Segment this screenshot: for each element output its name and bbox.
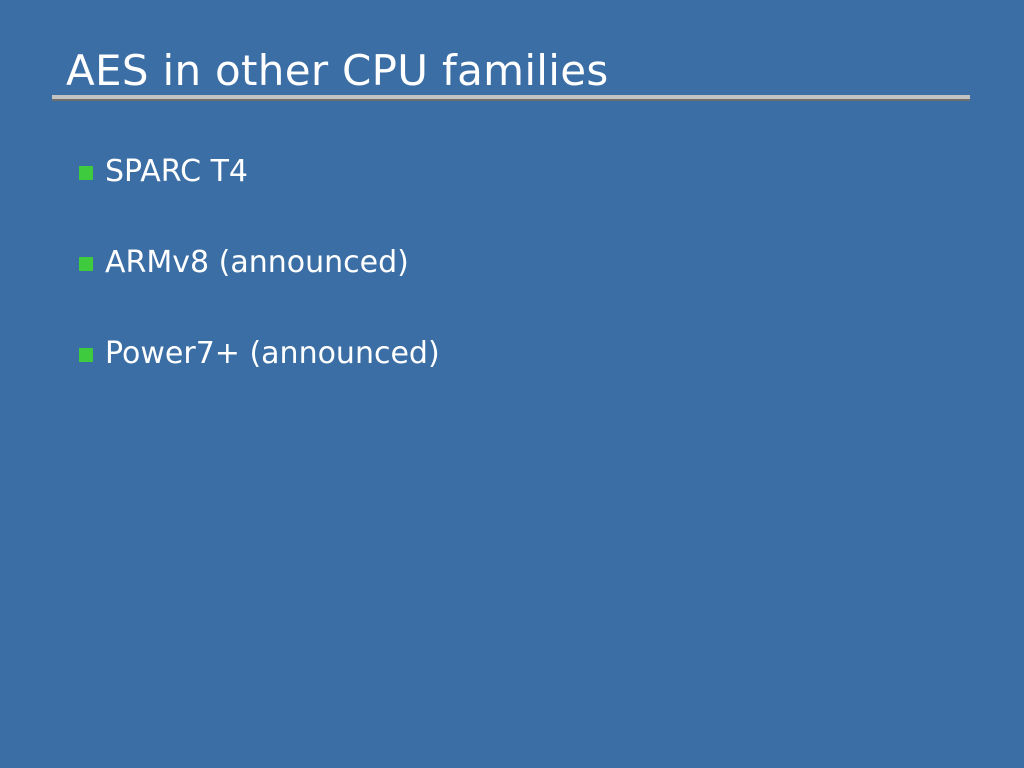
presentation-slide: AES in other CPU families SPARC T4 ARMv8… xyxy=(0,0,1024,768)
title-underline-rule xyxy=(52,95,970,101)
bullet-list: SPARC T4 ARMv8 (announced) Power7+ (anno… xyxy=(0,148,1024,421)
list-item: Power7+ (announced) xyxy=(0,330,1024,421)
list-item: SPARC T4 xyxy=(0,148,1024,239)
bullet-label: ARMv8 (announced) xyxy=(105,242,409,284)
bullet-label: Power7+ (announced) xyxy=(105,333,440,375)
title-rule-shadow xyxy=(52,99,970,101)
green-square-bullet-icon xyxy=(79,348,93,362)
green-square-bullet-icon xyxy=(79,257,93,271)
slide-title-block: AES in other CPU families xyxy=(0,0,1024,110)
bullet-label: SPARC T4 xyxy=(105,151,248,193)
green-square-bullet-icon xyxy=(79,166,93,180)
list-item: ARMv8 (announced) xyxy=(0,239,1024,330)
page-title: AES in other CPU families xyxy=(66,47,609,95)
